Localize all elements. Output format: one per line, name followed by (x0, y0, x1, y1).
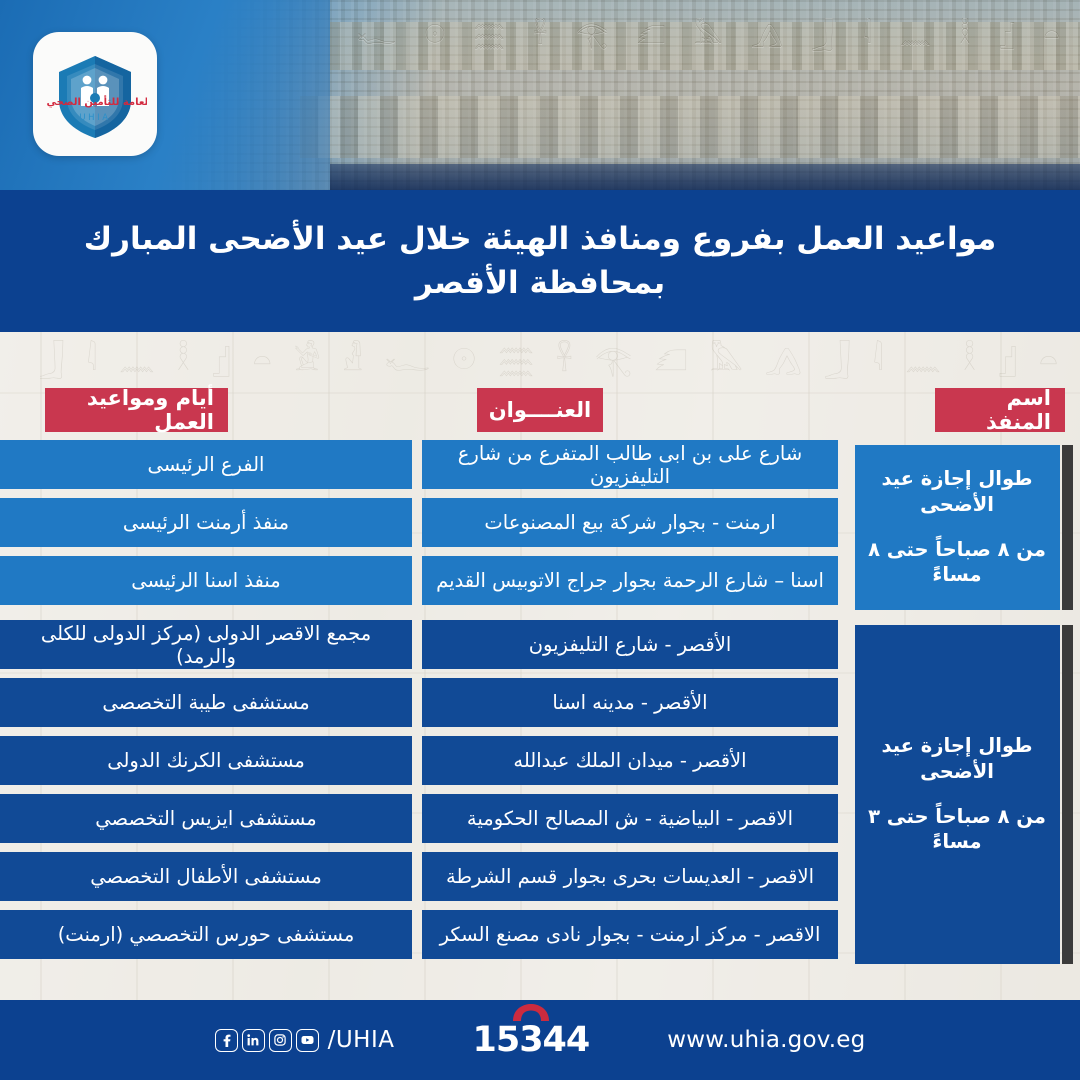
facebook-icon[interactable] (215, 1029, 238, 1052)
page-title-line1: مواعيد العمل بفروع ومنافذ الهيئة خلال عي… (50, 217, 1030, 261)
cell-outlet: منفذ أرمنت الرئيسى (0, 498, 412, 547)
cell-address: ارمنت - بجوار شركة بيع المصنوعات (422, 498, 838, 547)
cell-outlet: مجمع الاقصر الدولى (مركز الدولى للكلى وا… (0, 620, 412, 669)
table-row: منفذ أرمنت الرئيسى ارمنت - بجوار شركة بي… (0, 498, 838, 547)
cell-outlet: مستشفى الكرنك الدولى (0, 736, 412, 785)
temple-frieze-bottom (330, 164, 1080, 190)
hours-line1: طوال إجازة عيد الأضحى (865, 733, 1050, 784)
table-row: مستشفى الكرنك الدولى الأقصر - ميدان المل… (0, 736, 838, 785)
column-header-address: العنــــوان (477, 388, 603, 432)
page-title-line2: بمحافظة الأقصر (50, 261, 1030, 305)
svg-text:UHIA: UHIA (79, 113, 110, 123)
infographic-page: 𓂀 𓆎 𓅓 𓂻 𓃀 𓇋 𓈖 𓎛 𓊨 𓏏 𓀀 𓁐 𓆑 𓇳 𓈗 𓋹 𓂀 𓆎 𓅓 𓂻 … (0, 0, 1080, 1080)
cell-address: شارع على بن ابى طالب المتفرع من شارع الت… (422, 440, 838, 489)
cell-outlet: مستشفى ايزيس التخصصي (0, 794, 412, 843)
social-handle: /UHIA (328, 1027, 395, 1053)
hours-line1: طوال إجازة عيد الأضحى (865, 466, 1050, 517)
cell-address: الاقصر - مركز ارمنت - بجوار نادى مصنع ال… (422, 910, 838, 959)
hours-accent-bar (1062, 625, 1073, 964)
column-header-outlet: اسم المنفذ (935, 388, 1065, 432)
table-row: الفرع الرئيسى شارع على بن ابى طالب المتف… (0, 440, 838, 489)
linkedin-icon[interactable] (242, 1029, 265, 1052)
page-title: مواعيد العمل بفروع ومنافذ الهيئة خلال عي… (50, 217, 1030, 305)
youtube-icon[interactable] (296, 1029, 319, 1052)
footer-bar: /UHIA 15344 www.uhia.gov.eg (0, 1000, 1080, 1080)
cell-address: الأقصر - مدينه اسنا (422, 678, 838, 727)
schedule-table: الفرع الرئيسى شارع على بن ابى طالب المتف… (0, 440, 1080, 974)
column-header-hours: أيام ومواعيد العمل (45, 388, 228, 432)
cell-address: الاقصر - العديسات بحرى بجوار قسم الشرطة (422, 852, 838, 901)
social-links[interactable]: /UHIA (215, 1027, 395, 1053)
table-row: مستشفى طيبة التخصصى الأقصر - مدينه اسنا (0, 678, 838, 727)
website-url: www.uhia.gov.eg (667, 1027, 865, 1053)
shield-logo-icon: الهيئة العامة للتأمين الصحي الشامل UHIA (43, 42, 147, 146)
cell-address: الاقصر - البياضية - ش المصالح الحكومية (422, 794, 838, 843)
hours-line2: من ٨ صباحاً حتى ٨ مساءً (865, 537, 1050, 588)
hero-banner-image: 𓂀 𓆎 𓅓 𓂻 𓃀 𓇋 𓈖 𓎛 𓊨 𓏏 𓀀 𓁐 𓆑 𓇳 𓈗 𓋹 𓂀 𓆎 𓅓 𓂻 … (0, 0, 1080, 190)
column-headers: اسم المنفذ العنــــوان أيام ومواعيد العم… (0, 388, 1080, 432)
hieroglyph-glyphs: 𓂀 𓆎 𓅓 𓂻 𓃀 𓇋 𓈖 𓎛 𓊨 𓏏 𓀀 𓁐 𓆑 𓇳 𓈗 𓋹 𓂀 𓆎 𓅓 𓂻 … (340, 18, 1070, 166)
cell-address: اسنا – شارع الرحمة بجوار جراج الاتوبيس ا… (422, 556, 838, 605)
cell-hours: طوال إجازة عيد الأضحى من ٨ صباحاً حتى ٣ … (855, 625, 1060, 964)
svg-text:الهيئة العامة للتأمين الصحي ال: الهيئة العامة للتأمين الصحي الشامل (43, 95, 147, 108)
cell-outlet: مستشفى حورس التخصصي (ارمنت) (0, 910, 412, 959)
cell-outlet: منفذ اسنا الرئيسى (0, 556, 412, 605)
group-hours-column: طوال إجازة عيد الأضحى من ٨ صباحاً حتى ٣ … (842, 620, 1072, 968)
footer-content: /UHIA 15344 www.uhia.gov.eg (215, 1023, 866, 1058)
cell-outlet: مستشفى طيبة التخصصى (0, 678, 412, 727)
group-rows: الفرع الرئيسى شارع على بن ابى طالب المتف… (0, 440, 838, 614)
table-row: منفذ اسنا الرئيسى اسنا – شارع الرحمة بجو… (0, 556, 838, 605)
table-row: مستشفى الأطفال التخصصي الاقصر - العديسات… (0, 852, 838, 901)
cell-hours: طوال إجازة عيد الأضحى من ٨ صباحاً حتى ٨ … (855, 445, 1060, 610)
hotline-number: 15344 (473, 1023, 590, 1058)
table-row: مستشفى حورس التخصصي (ارمنت) الاقصر - مرك… (0, 910, 838, 959)
title-banner: مواعيد العمل بفروع ومنافذ الهيئة خلال عي… (0, 190, 1080, 332)
uhia-logo: الهيئة العامة للتأمين الصحي الشامل UHIA (33, 32, 157, 156)
hours-accent-bar (1062, 445, 1073, 610)
cell-outlet: الفرع الرئيسى (0, 440, 412, 489)
group-hours-column: طوال إجازة عيد الأضحى من ٨ صباحاً حتى ٨ … (842, 440, 1072, 614)
schedule-group: الفرع الرئيسى شارع على بن ابى طالب المتف… (0, 440, 1080, 614)
instagram-icon[interactable] (269, 1029, 292, 1052)
cell-address: الأقصر - ميدان الملك عبدالله (422, 736, 838, 785)
hours-line2: من ٨ صباحاً حتى ٣ مساءً (865, 804, 1050, 855)
schedule-group: مجمع الاقصر الدولى (مركز الدولى للكلى وا… (0, 620, 1080, 968)
hotline: 15344 (473, 1023, 590, 1058)
group-rows: مجمع الاقصر الدولى (مركز الدولى للكلى وا… (0, 620, 838, 968)
cell-address: الأقصر - شارع التليفزيون (422, 620, 838, 669)
table-row: مجمع الاقصر الدولى (مركز الدولى للكلى وا… (0, 620, 838, 669)
table-row: مستشفى ايزيس التخصصي الاقصر - البياضية -… (0, 794, 838, 843)
cell-outlet: مستشفى الأطفال التخصصي (0, 852, 412, 901)
phone-handset-icon (509, 1002, 553, 1026)
